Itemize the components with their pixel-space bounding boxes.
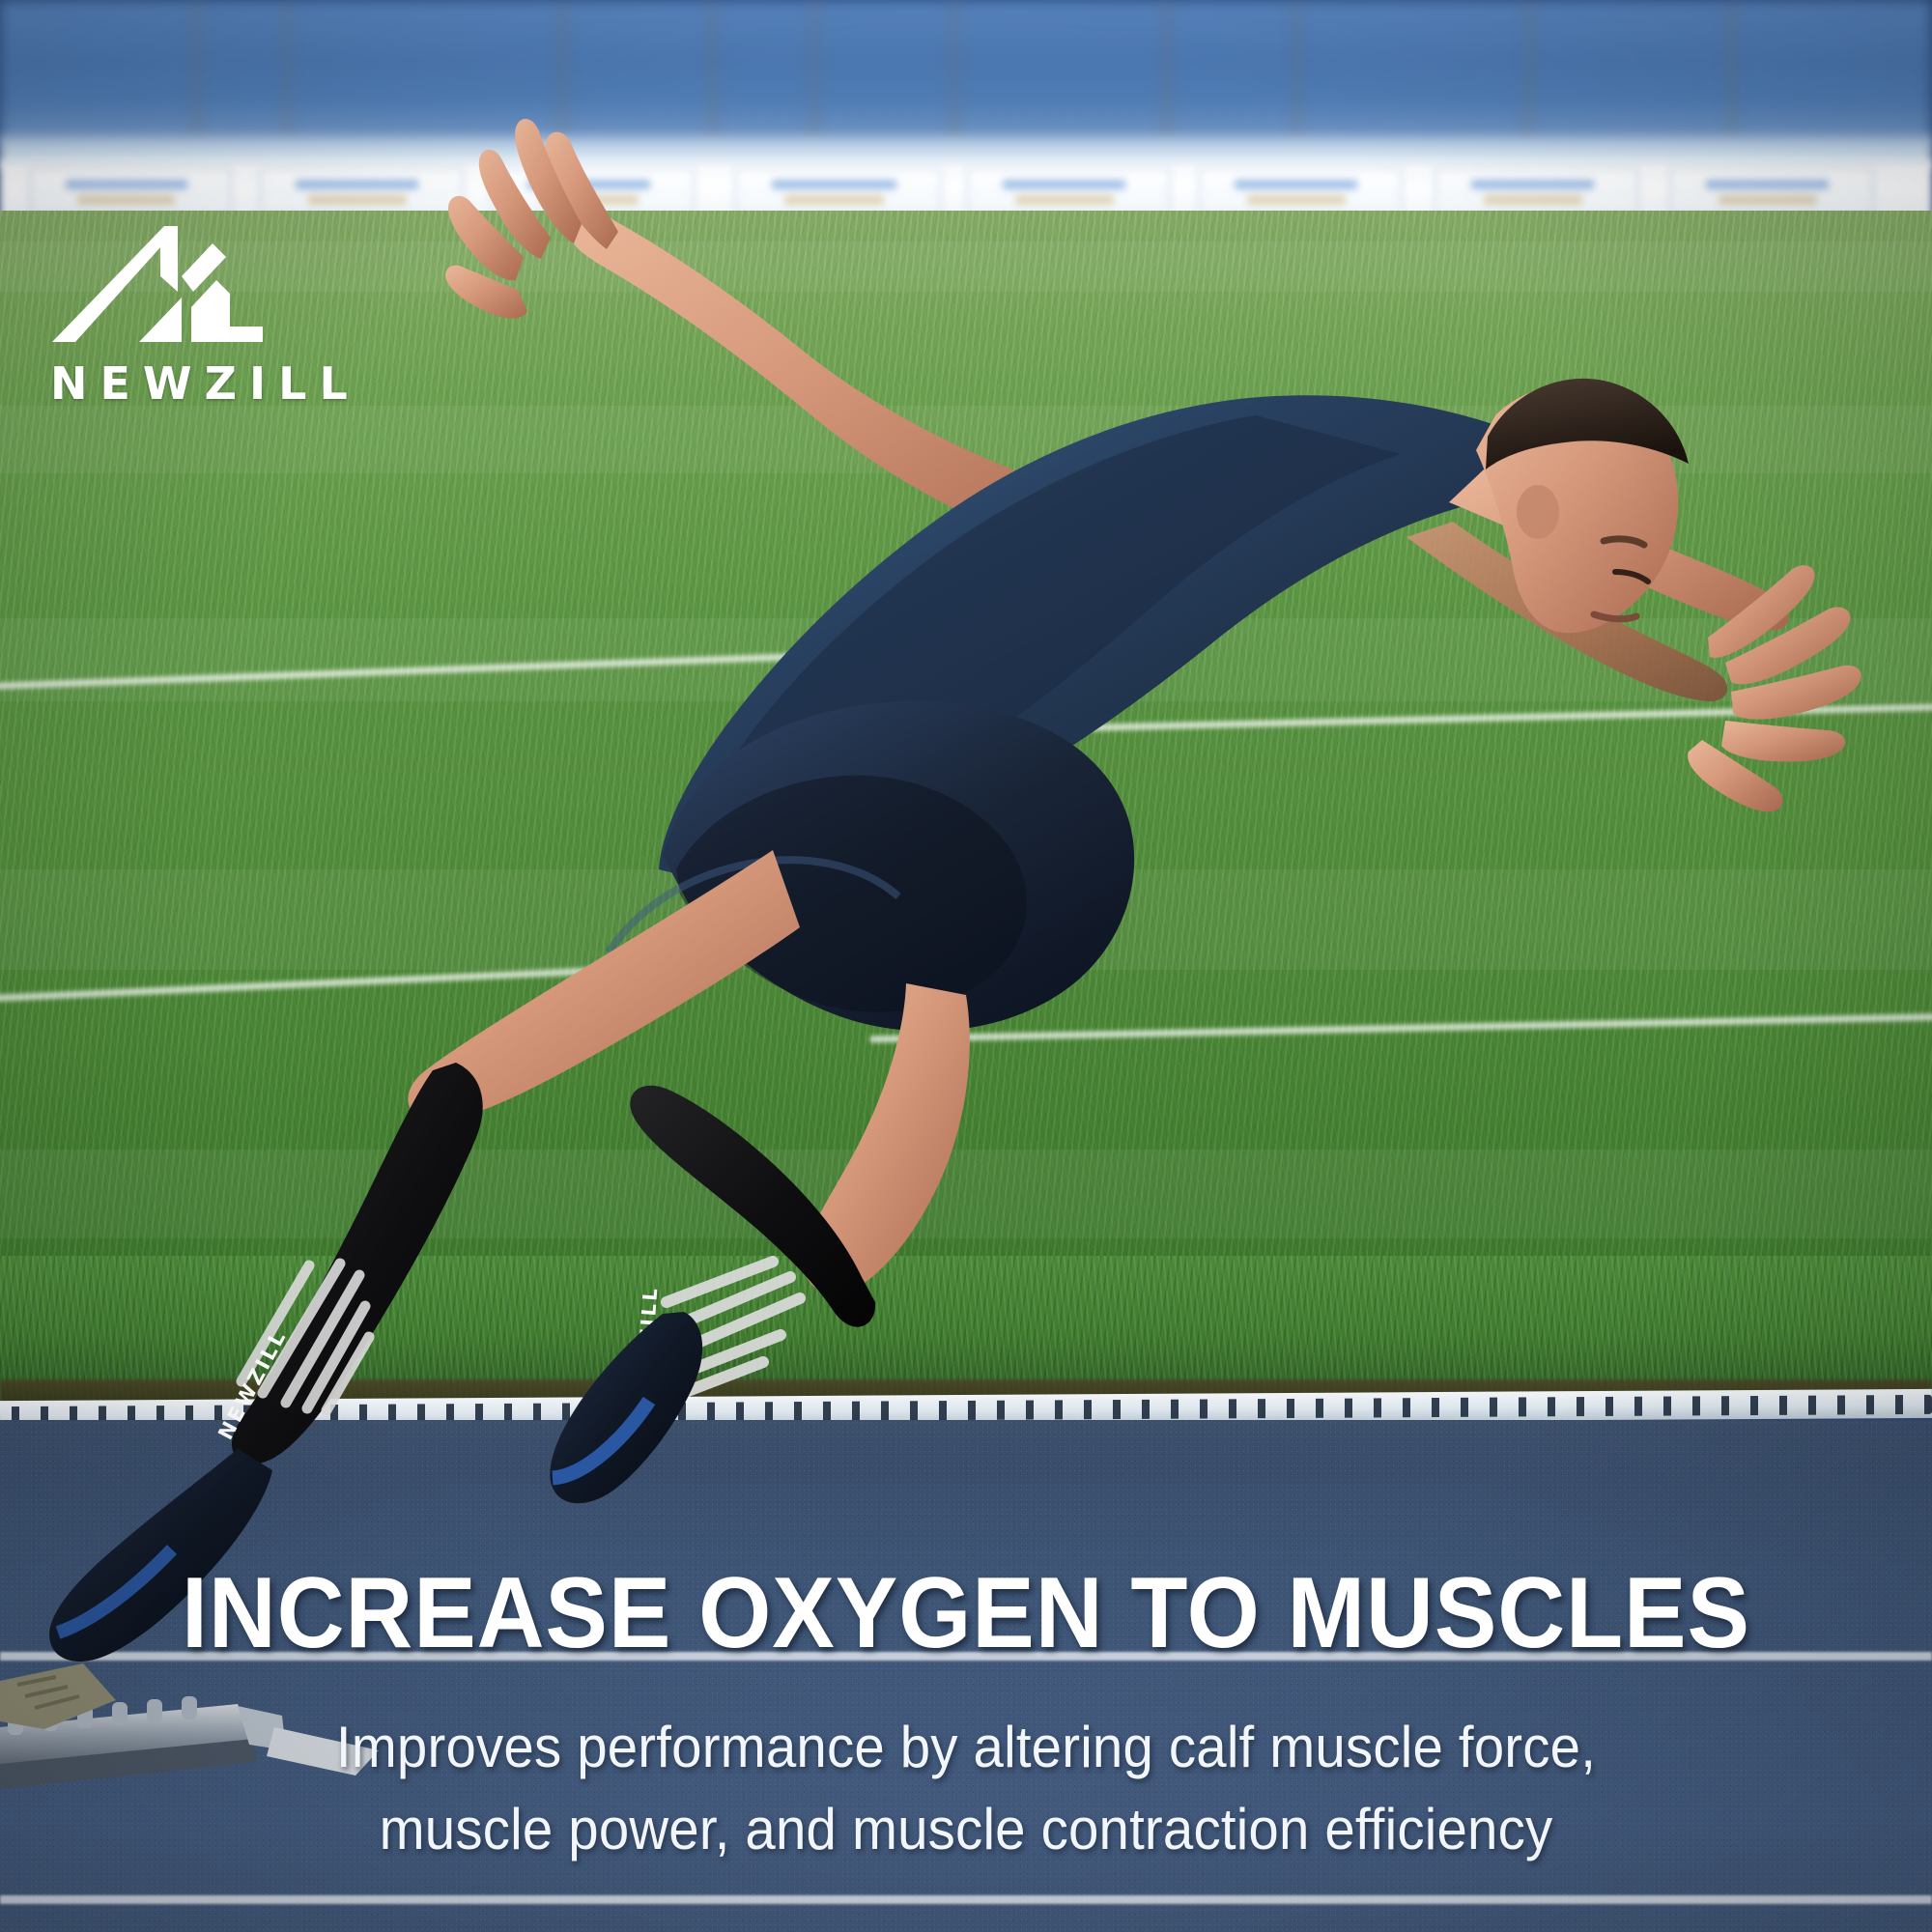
subheadline: Improves performance by altering calf mu… bbox=[58, 1706, 1874, 1870]
headline: INCREASE OXYGEN TO MUSCLES bbox=[68, 1563, 1864, 1663]
left-hand bbox=[445, 119, 618, 318]
mountain-peaks-icon bbox=[46, 220, 269, 355]
brand-wordmark: NEWZILL bbox=[50, 361, 365, 406]
subheadline-line-2: muscle power, and muscle contraction eff… bbox=[58, 1788, 1874, 1870]
brand-logo: NEWZILL bbox=[46, 220, 365, 406]
marketing-copy: INCREASE OXYGEN TO MUSCLES Improves perf… bbox=[0, 1563, 1932, 1870]
left-calf-compression-sleeve bbox=[232, 1063, 483, 1464]
product-marketing-image: NEWZILL NEWZILL bbox=[0, 0, 1932, 1932]
ear bbox=[1517, 485, 1559, 539]
subheadline-line-1: Improves performance by altering calf mu… bbox=[58, 1706, 1874, 1788]
